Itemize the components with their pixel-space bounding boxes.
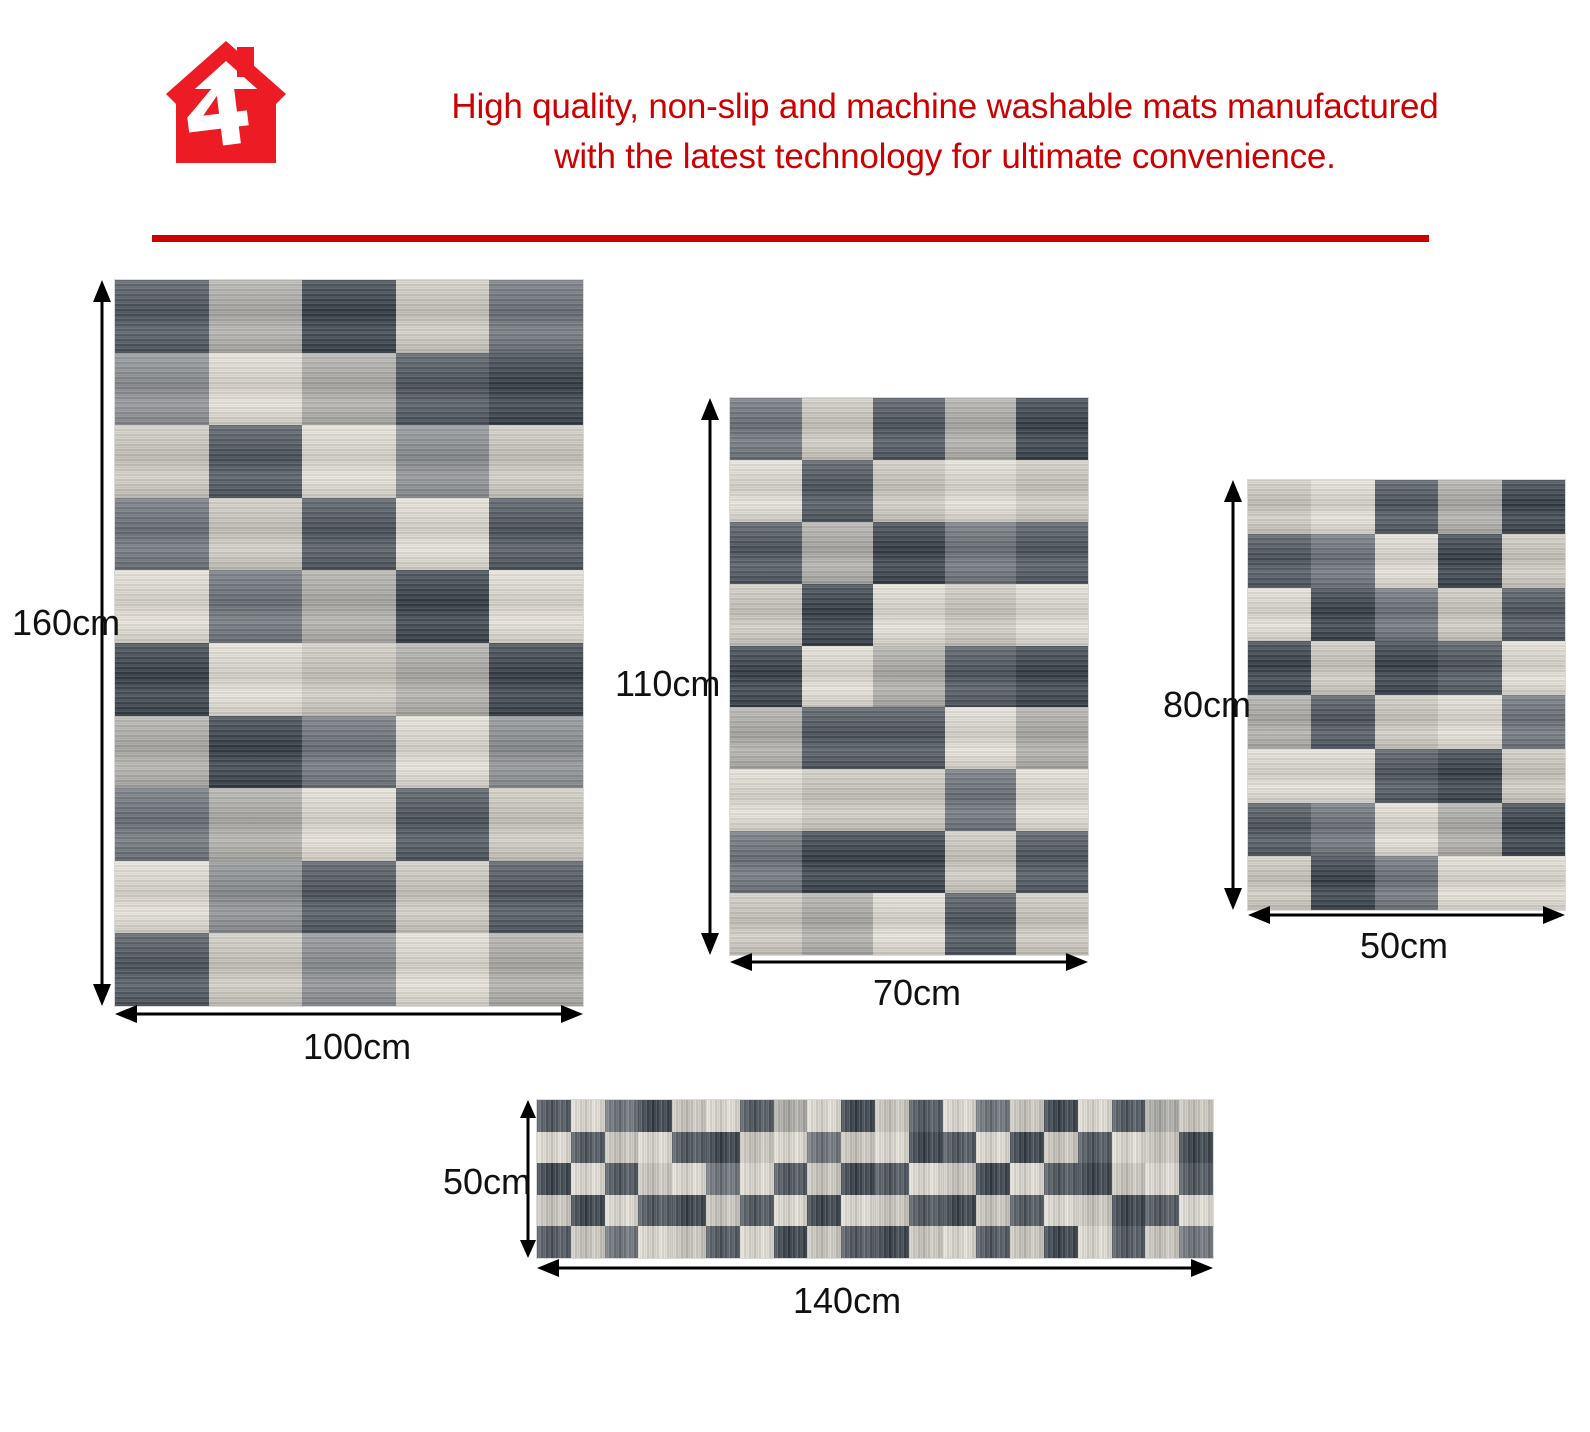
mat-pattern-cell	[396, 788, 490, 861]
mat-pattern-cell	[802, 584, 874, 646]
mat-pattern-cell	[1248, 641, 1311, 695]
mat-pattern-cell	[672, 1163, 706, 1195]
mat-pattern-cell	[489, 353, 583, 426]
mat-pattern-cell	[807, 1132, 841, 1164]
mat-pattern-cell	[1016, 831, 1088, 893]
mat-pattern-cell	[873, 831, 945, 893]
mat-pattern-cell	[1311, 856, 1374, 910]
mat-pattern-cell	[802, 398, 874, 460]
mat-pattern-cell	[943, 1163, 977, 1195]
mat-pattern-cell	[209, 280, 303, 353]
mat-50x140-image	[537, 1100, 1213, 1258]
mat-pattern-cell	[302, 933, 396, 1006]
mat-pattern-cell	[489, 788, 583, 861]
mat-pattern-cell	[802, 522, 874, 584]
mat-pattern-cell	[672, 1132, 706, 1164]
mat-pattern-cell	[1145, 1195, 1179, 1227]
mat-pattern-cell	[1311, 695, 1374, 749]
mat-pattern-cell	[115, 788, 209, 861]
mat-pattern-cell	[875, 1195, 909, 1227]
mat-pattern-cell	[1010, 1100, 1044, 1132]
mat-80x50-pattern	[1248, 480, 1565, 910]
mat-pattern-cell	[976, 1163, 1010, 1195]
mat-pattern-cell	[730, 584, 802, 646]
mat-pattern-cell	[1502, 641, 1565, 695]
mat-pattern-cell	[1112, 1163, 1146, 1195]
mat-pattern-cell	[396, 425, 490, 498]
mat-160x100-width-arrow	[115, 1004, 583, 1024]
mat-pattern-cell	[1248, 534, 1311, 588]
mat-pattern-cell	[841, 1163, 875, 1195]
mat-pattern-cell	[638, 1226, 672, 1258]
mat-pattern-cell	[945, 522, 1017, 584]
mat-pattern-cell	[706, 1195, 740, 1227]
mat-pattern-cell	[1179, 1100, 1213, 1132]
mat-pattern-cell	[302, 788, 396, 861]
mat-pattern-cell	[875, 1163, 909, 1195]
mat-pattern-cell	[115, 861, 209, 934]
mat-pattern-cell	[1375, 588, 1438, 642]
header-line-2: with the latest technology for ultimate …	[420, 132, 1470, 182]
mat-160x100-height-label: 160cm	[12, 602, 120, 644]
mat-pattern-cell	[638, 1132, 672, 1164]
mat-pattern-cell	[1016, 522, 1088, 584]
house-with-number-4-icon	[166, 41, 286, 163]
mat-pattern-cell	[740, 1132, 774, 1164]
mat-pattern-cell	[115, 498, 209, 571]
mat-pattern-cell	[1311, 480, 1374, 534]
mat-pattern-cell	[807, 1195, 841, 1227]
mat-pattern-cell	[1502, 480, 1565, 534]
mat-pattern-cell	[571, 1100, 605, 1132]
mat-pattern-cell	[396, 498, 490, 571]
mat-pattern-cell	[873, 893, 945, 955]
mat-pattern-cell	[1078, 1100, 1112, 1132]
mat-110x70-height-label: 110cm	[615, 663, 720, 705]
mat-pattern-cell	[1438, 749, 1501, 803]
mat-pattern-cell	[489, 425, 583, 498]
mat-pattern-cell	[302, 353, 396, 426]
mat-pattern-cell	[706, 1132, 740, 1164]
mat-pattern-cell	[875, 1100, 909, 1132]
mat-110x70-pattern	[730, 398, 1088, 955]
mat-pattern-cell	[841, 1195, 875, 1227]
mat-pattern-cell	[730, 460, 802, 522]
mat-pattern-cell	[537, 1195, 571, 1227]
mat-pattern-cell	[115, 643, 209, 716]
mat-pattern-cell	[209, 861, 303, 934]
mat-pattern-cell	[730, 831, 802, 893]
mat-pattern-cell	[1438, 856, 1501, 910]
mat-pattern-cell	[209, 570, 303, 643]
mat-pattern-cell	[1016, 646, 1088, 708]
mat-160x100-image	[115, 280, 583, 1006]
mat-pattern-cell	[605, 1226, 639, 1258]
mat-pattern-cell	[537, 1163, 571, 1195]
mat-pattern-cell	[945, 893, 1017, 955]
mat-pattern-cell	[873, 769, 945, 831]
mat-pattern-cell	[1502, 803, 1565, 857]
header-divider	[152, 235, 1429, 242]
mat-pattern-cell	[1248, 803, 1311, 857]
mat-pattern-cell	[209, 716, 303, 789]
mat-pattern-cell	[209, 933, 303, 1006]
mat-pattern-cell	[774, 1195, 808, 1227]
mat-pattern-cell	[909, 1195, 943, 1227]
mat-50x140-width-label: 140cm	[793, 1280, 901, 1322]
mat-160x100-width-label: 100cm	[303, 1026, 411, 1068]
mat-pattern-cell	[1311, 803, 1374, 857]
mat-pattern-cell	[945, 646, 1017, 708]
mat-pattern-cell	[489, 861, 583, 934]
mat-pattern-cell	[909, 1226, 943, 1258]
mat-pattern-cell	[1375, 480, 1438, 534]
mat-110x70-width-arrow	[730, 952, 1088, 972]
mat-pattern-cell	[943, 1100, 977, 1132]
mat-pattern-cell	[115, 933, 209, 1006]
mat-pattern-cell	[605, 1132, 639, 1164]
mat-pattern-cell	[1016, 398, 1088, 460]
mat-pattern-cell	[1078, 1163, 1112, 1195]
mat-pattern-cell	[1311, 749, 1374, 803]
mat-pattern-cell	[945, 831, 1017, 893]
mat-pattern-cell	[672, 1195, 706, 1227]
mat-pattern-cell	[1375, 749, 1438, 803]
mat-pattern-cell	[875, 1226, 909, 1258]
mat-pattern-cell	[976, 1195, 1010, 1227]
mat-pattern-cell	[802, 460, 874, 522]
mat-pattern-cell	[396, 716, 490, 789]
mat-pattern-cell	[1010, 1195, 1044, 1227]
mat-pattern-cell	[802, 646, 874, 708]
mat-pattern-cell	[302, 280, 396, 353]
mat-pattern-cell	[1311, 534, 1374, 588]
mat-pattern-cell	[706, 1163, 740, 1195]
mat-pattern-cell	[1078, 1226, 1112, 1258]
mat-pattern-cell	[730, 707, 802, 769]
mat-pattern-cell	[571, 1195, 605, 1227]
mat-80x50-width-arrow	[1248, 905, 1565, 925]
mat-pattern-cell	[873, 522, 945, 584]
mat-pattern-cell	[1375, 803, 1438, 857]
mat-pattern-cell	[1112, 1195, 1146, 1227]
mat-pattern-cell	[302, 498, 396, 571]
mat-pattern-cell	[396, 353, 490, 426]
mat-pattern-cell	[1248, 695, 1311, 749]
mat-pattern-cell	[1016, 707, 1088, 769]
mat-pattern-cell	[1016, 769, 1088, 831]
mat-pattern-cell	[740, 1195, 774, 1227]
mat-pattern-cell	[537, 1226, 571, 1258]
mat-pattern-cell	[1438, 534, 1501, 588]
mat-pattern-cell	[943, 1195, 977, 1227]
mat-pattern-cell	[209, 353, 303, 426]
mat-pattern-cell	[672, 1100, 706, 1132]
mat-pattern-cell	[774, 1132, 808, 1164]
mat-pattern-cell	[1248, 480, 1311, 534]
mat-pattern-cell	[1145, 1226, 1179, 1258]
mat-pattern-cell	[802, 769, 874, 831]
mat-pattern-cell	[841, 1100, 875, 1132]
mat-pattern-cell	[945, 460, 1017, 522]
mat-pattern-cell	[302, 570, 396, 643]
mat-pattern-cell	[489, 280, 583, 353]
mat-pattern-cell	[1112, 1226, 1146, 1258]
mat-pattern-cell	[706, 1100, 740, 1132]
mat-pattern-cell	[1438, 588, 1501, 642]
mat-pattern-cell	[1375, 695, 1438, 749]
mat-pattern-cell	[909, 1132, 943, 1164]
mat-pattern-cell	[730, 522, 802, 584]
mat-pattern-cell	[1044, 1163, 1078, 1195]
mat-pattern-cell	[740, 1163, 774, 1195]
mat-pattern-cell	[945, 584, 1017, 646]
mat-pattern-cell	[1248, 749, 1311, 803]
mat-pattern-cell	[571, 1226, 605, 1258]
mat-pattern-cell	[489, 498, 583, 571]
mat-pattern-cell	[740, 1100, 774, 1132]
mat-pattern-cell	[1112, 1132, 1146, 1164]
mat-pattern-cell	[774, 1163, 808, 1195]
mat-pattern-cell	[1438, 695, 1501, 749]
mat-pattern-cell	[976, 1100, 1010, 1132]
mat-pattern-cell	[1010, 1132, 1044, 1164]
mat-pattern-cell	[1179, 1226, 1213, 1258]
mat-pattern-cell	[1016, 460, 1088, 522]
mat-pattern-cell	[1044, 1195, 1078, 1227]
mat-pattern-cell	[672, 1226, 706, 1258]
mat-pattern-cell	[1145, 1163, 1179, 1195]
mat-pattern-cell	[1016, 893, 1088, 955]
mat-pattern-cell	[1112, 1100, 1146, 1132]
mat-pattern-cell	[115, 716, 209, 789]
mat-pattern-cell	[802, 893, 874, 955]
mat-pattern-cell	[976, 1132, 1010, 1164]
mat-pattern-cell	[1438, 803, 1501, 857]
mat-pattern-cell	[302, 716, 396, 789]
mat-pattern-cell	[873, 460, 945, 522]
mat-pattern-cell	[489, 570, 583, 643]
mat-pattern-cell	[115, 570, 209, 643]
mat-pattern-cell	[730, 769, 802, 831]
mat-pattern-cell	[943, 1132, 977, 1164]
mat-pattern-cell	[1248, 856, 1311, 910]
mat-pattern-cell	[1375, 641, 1438, 695]
mat-pattern-cell	[1179, 1132, 1213, 1164]
mat-pattern-cell	[115, 425, 209, 498]
mat-pattern-cell	[302, 861, 396, 934]
mat-pattern-cell	[1145, 1132, 1179, 1164]
mat-pattern-cell	[1375, 856, 1438, 910]
mat-pattern-cell	[774, 1226, 808, 1258]
mat-pattern-cell	[1078, 1132, 1112, 1164]
mat-pattern-cell	[1179, 1163, 1213, 1195]
mat-pattern-cell	[873, 646, 945, 708]
mat-pattern-cell	[396, 933, 490, 1006]
mat-pattern-cell	[873, 584, 945, 646]
mat-80x50-width-label: 50cm	[1360, 925, 1448, 967]
mat-pattern-cell	[1502, 588, 1565, 642]
mat-pattern-cell	[1438, 480, 1501, 534]
page-title: High quality, non-slip and machine washa…	[420, 82, 1470, 181]
header-line-1: High quality, non-slip and machine washa…	[420, 82, 1470, 132]
mat-50x140-pattern	[537, 1100, 1213, 1258]
mat-pattern-cell	[1044, 1132, 1078, 1164]
mat-pattern-cell	[537, 1100, 571, 1132]
mat-pattern-cell	[605, 1195, 639, 1227]
mat-pattern-cell	[873, 707, 945, 769]
mat-pattern-cell	[537, 1132, 571, 1164]
mat-50x140-width-arrow	[537, 1258, 1213, 1278]
mat-pattern-cell	[730, 646, 802, 708]
mat-pattern-cell	[302, 643, 396, 716]
mat-pattern-cell	[1311, 588, 1374, 642]
mat-pattern-cell	[1044, 1226, 1078, 1258]
mat-pattern-cell	[774, 1100, 808, 1132]
mat-pattern-cell	[1311, 641, 1374, 695]
mat-pattern-cell	[1145, 1100, 1179, 1132]
mat-pattern-cell	[730, 893, 802, 955]
mat-pattern-cell	[730, 398, 802, 460]
mat-pattern-cell	[807, 1100, 841, 1132]
mat-pattern-cell	[945, 398, 1017, 460]
mat-pattern-cell	[605, 1163, 639, 1195]
mat-pattern-cell	[489, 933, 583, 1006]
mat-pattern-cell	[807, 1226, 841, 1258]
mat-pattern-cell	[841, 1132, 875, 1164]
mat-pattern-cell	[873, 398, 945, 460]
mat-pattern-cell	[909, 1163, 943, 1195]
mat-pattern-cell	[945, 769, 1017, 831]
mat-pattern-cell	[1044, 1100, 1078, 1132]
mat-pattern-cell	[1438, 641, 1501, 695]
mat-pattern-cell	[1502, 534, 1565, 588]
mat-pattern-cell	[396, 643, 490, 716]
brand-logo	[163, 33, 289, 167]
mat-pattern-cell	[571, 1163, 605, 1195]
mat-pattern-cell	[807, 1163, 841, 1195]
mat-pattern-cell	[1502, 749, 1565, 803]
mat-pattern-cell	[605, 1100, 639, 1132]
mat-pattern-cell	[1016, 584, 1088, 646]
mat-pattern-cell	[740, 1226, 774, 1258]
mat-50x140-height-label: 50cm	[443, 1161, 531, 1203]
mat-pattern-cell	[115, 353, 209, 426]
mat-pattern-cell	[302, 425, 396, 498]
mat-pattern-cell	[638, 1100, 672, 1132]
mat-pattern-cell	[571, 1132, 605, 1164]
mat-pattern-cell	[841, 1226, 875, 1258]
mat-pattern-cell	[943, 1226, 977, 1258]
mat-pattern-cell	[945, 707, 1017, 769]
mat-pattern-cell	[802, 707, 874, 769]
mat-pattern-cell	[1010, 1226, 1044, 1258]
mat-pattern-cell	[209, 425, 303, 498]
mat-pattern-cell	[706, 1226, 740, 1258]
mat-pattern-cell	[209, 498, 303, 571]
mat-pattern-cell	[1375, 534, 1438, 588]
mat-pattern-cell	[209, 643, 303, 716]
mat-pattern-cell	[875, 1132, 909, 1164]
mat-pattern-cell	[1502, 856, 1565, 910]
mat-pattern-cell	[802, 831, 874, 893]
mat-pattern-cell	[1078, 1195, 1112, 1227]
mat-pattern-cell	[1010, 1163, 1044, 1195]
mat-80x50-image	[1248, 480, 1565, 910]
mat-pattern-cell	[396, 280, 490, 353]
mat-110x70-image	[730, 398, 1088, 955]
mat-pattern-cell	[909, 1100, 943, 1132]
mat-80x50-height-label: 80cm	[1163, 684, 1251, 726]
mat-pattern-cell	[638, 1195, 672, 1227]
mat-pattern-cell	[396, 861, 490, 934]
mat-pattern-cell	[1179, 1195, 1213, 1227]
mat-pattern-cell	[115, 280, 209, 353]
mat-pattern-cell	[1502, 695, 1565, 749]
mat-pattern-cell	[1248, 588, 1311, 642]
mat-pattern-cell	[396, 570, 490, 643]
mat-110x70-width-label: 70cm	[873, 972, 961, 1014]
mat-pattern-cell	[209, 788, 303, 861]
mat-pattern-cell	[976, 1226, 1010, 1258]
mat-pattern-cell	[489, 716, 583, 789]
mat-pattern-cell	[638, 1163, 672, 1195]
mat-pattern-cell	[489, 643, 583, 716]
mat-160x100-pattern	[115, 280, 583, 1006]
